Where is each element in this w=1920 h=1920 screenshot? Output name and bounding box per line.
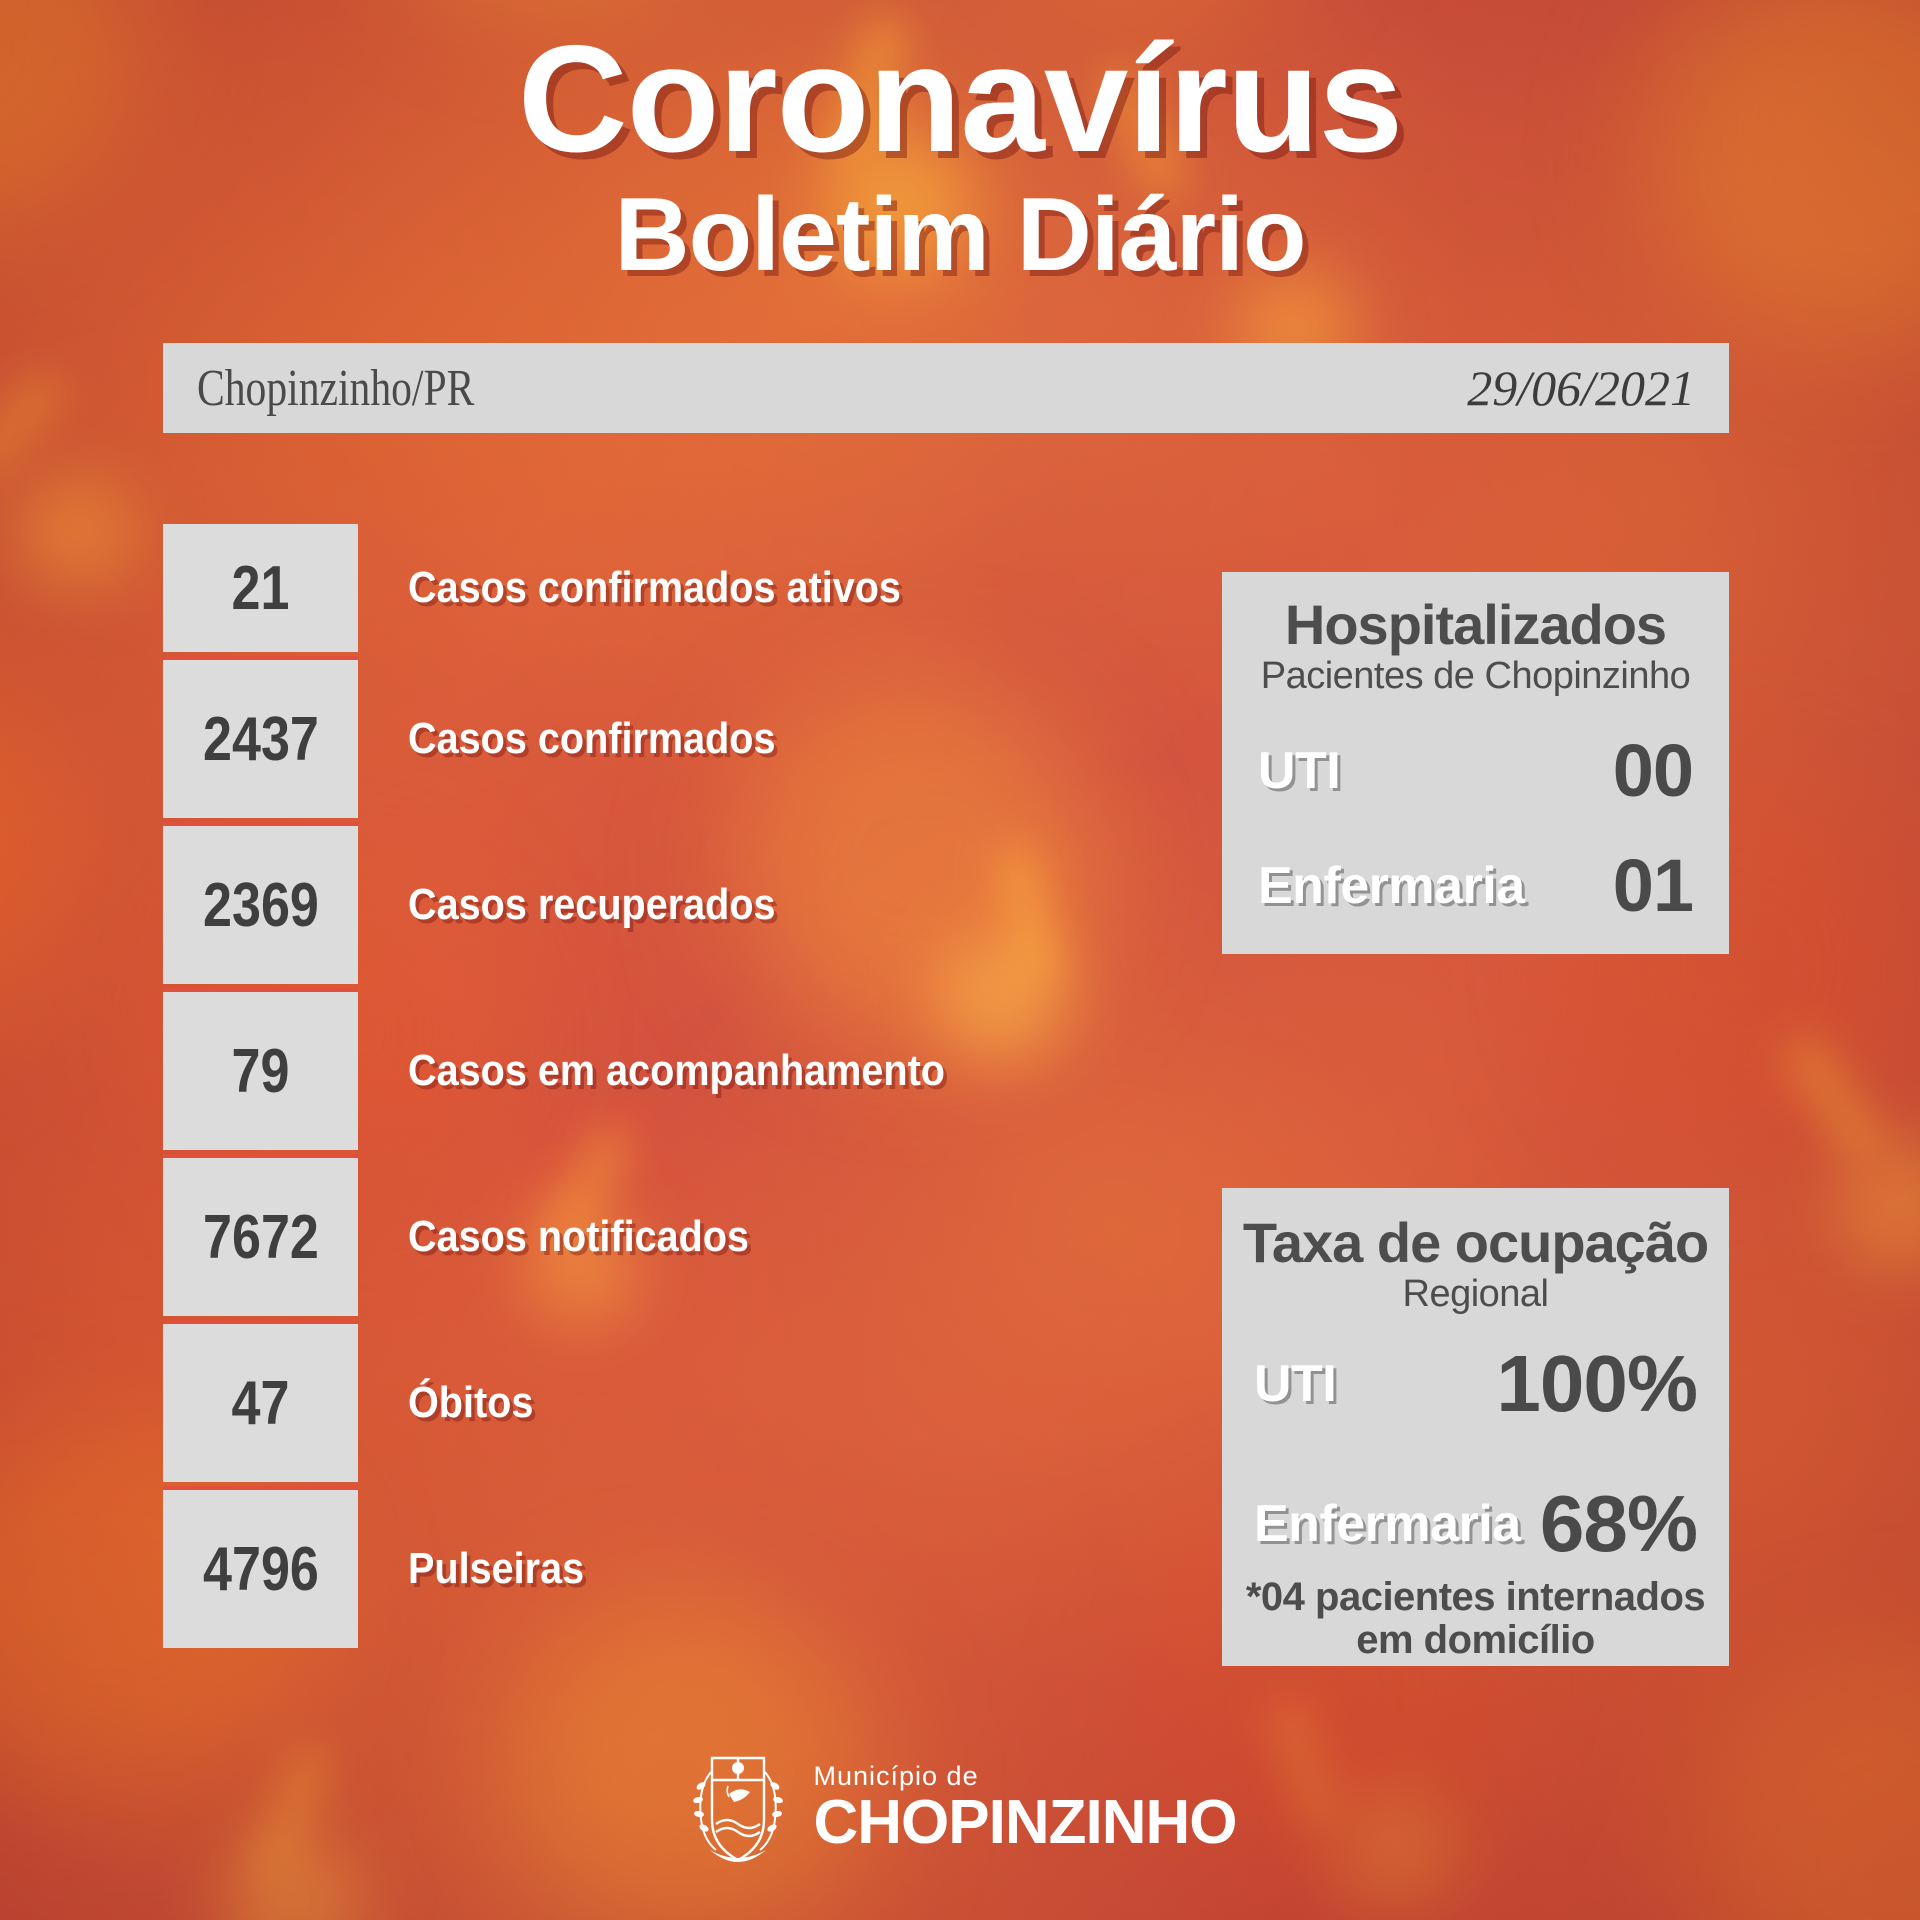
location-label: Chopinzinho/PR (197, 359, 474, 418)
stat-value: 4796 (203, 1534, 319, 1605)
date-label: 29/06/2021 (1467, 359, 1695, 417)
hospitalized-title: Hospitalizados (1240, 596, 1711, 654)
stat-label: Casos em acompanhamento (408, 1046, 945, 1096)
stat-label: Casos recuperados (408, 880, 776, 930)
stat-value-box: 79 (163, 992, 358, 1150)
hospitalized-panel: Hospitalizados Pacientes de Chopinzinho … (1222, 572, 1729, 954)
stat-row: 21 Casos confirmados ativos (163, 524, 1043, 652)
footer-brand-line2: CHOPINZINHO (814, 1792, 1237, 1854)
stat-value: 2437 (203, 704, 319, 775)
stat-label: Casos notificados (408, 1212, 749, 1262)
stats-list: 21 Casos confirmados ativos 2437 Casos c… (163, 524, 1043, 1652)
stat-row: 47 Óbitos (163, 1324, 1043, 1482)
occupancy-value-enfermaria: 68% (1540, 1478, 1697, 1570)
stat-value-box: 2437 (163, 660, 358, 818)
stat-value: 79 (232, 1036, 290, 1107)
stat-value-box: 47 (163, 1324, 358, 1482)
hospitalized-row-uti: UTI 00 (1240, 728, 1711, 813)
coat-of-arms-icon (684, 1742, 792, 1874)
occupancy-key-uti: UTI (1254, 1354, 1336, 1414)
stat-label: Pulseiras (408, 1544, 584, 1594)
occupancy-subtitle: Regional (1236, 1274, 1715, 1316)
stat-value: 47 (232, 1368, 290, 1439)
stat-value-box: 21 (163, 524, 358, 652)
occupancy-row-enfermaria: Enfermaria 68% (1236, 1478, 1715, 1570)
stat-row: 2437 Casos confirmados (163, 660, 1043, 818)
stat-row: 7672 Casos notificados (163, 1158, 1043, 1316)
hospitalized-key-uti: UTI (1258, 741, 1340, 801)
stat-value: 2369 (203, 870, 319, 941)
occupancy-row-uti: UTI 100% (1236, 1338, 1715, 1430)
footer: Município de CHOPINZINHO (0, 1742, 1920, 1874)
stat-value: 7672 (203, 1202, 319, 1273)
stat-value-box: 7672 (163, 1158, 358, 1316)
hospitalized-value-enfermaria: 01 (1613, 843, 1693, 928)
stat-row: 4796 Pulseiras (163, 1490, 1043, 1648)
stat-label: Casos confirmados ativos (408, 563, 901, 613)
hospitalized-row-enfermaria: Enfermaria 01 (1240, 843, 1711, 928)
occupancy-note: *04 pacientes internados em domicílio (1236, 1576, 1715, 1662)
header-bar: Chopinzinho/PR 29/06/2021 (163, 343, 1729, 433)
stat-value-box: 4796 (163, 1490, 358, 1648)
stat-row: 79 Casos em acompanhamento (163, 992, 1043, 1150)
occupancy-key-enfermaria: Enfermaria (1254, 1494, 1521, 1554)
hospitalized-key-enfermaria: Enfermaria (1258, 856, 1525, 916)
hospitalized-value-uti: 00 (1613, 728, 1693, 813)
stat-label: Óbitos (408, 1378, 533, 1428)
footer-brand: Município de CHOPINZINHO (814, 1763, 1237, 1854)
stat-value-box: 2369 (163, 826, 358, 984)
occupancy-title: Taxa de ocupação (1236, 1214, 1715, 1272)
stat-value: 21 (232, 553, 290, 624)
footer-brand-line1: Município de (814, 1763, 1237, 1790)
title-boletim-diario: Boletim Diário (0, 181, 1920, 290)
page-title: Coronavírus Boletim Diário (0, 0, 1920, 290)
title-coronavirus: Coronavírus (0, 22, 1920, 177)
stat-row: 2369 Casos recuperados (163, 826, 1043, 984)
occupancy-panel: Taxa de ocupação Regional UTI 100% Enfer… (1222, 1188, 1729, 1666)
hospitalized-subtitle: Pacientes de Chopinzinho (1240, 656, 1711, 698)
stat-label: Casos confirmados (408, 714, 776, 764)
occupancy-value-uti: 100% (1496, 1338, 1697, 1430)
